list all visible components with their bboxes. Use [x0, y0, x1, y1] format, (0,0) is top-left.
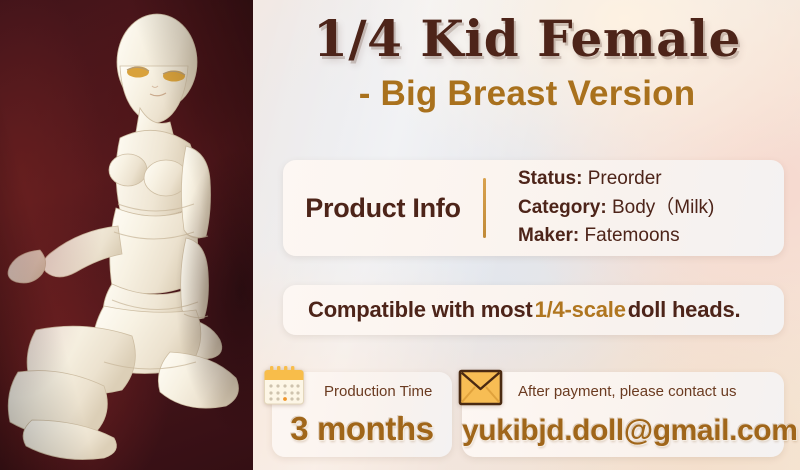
- envelope-icon: [458, 369, 503, 406]
- info-key: Category:: [518, 197, 607, 218]
- page-subtitle: - Big Breast Version: [262, 75, 792, 114]
- info-row-category: Category: Body（Milk): [518, 194, 784, 223]
- product-info-card: Product Info Status: Preorder Category: …: [283, 160, 784, 256]
- production-time-label: Production Time: [324, 383, 432, 400]
- title-block: 1/4 Kid Female - Big Breast Version: [262, 12, 792, 114]
- info-value: Body（Milk): [612, 197, 714, 218]
- contact-card: After payment, please contact us yukibjd…: [462, 372, 784, 457]
- promo-banner: 1/4 Kid Female - Big Breast Version Prod…: [0, 0, 800, 470]
- production-time-value: 3 months: [272, 410, 452, 448]
- page-title: 1/4 Kid Female: [262, 12, 792, 65]
- info-row-maker: Maker: Fatemoons: [518, 222, 784, 251]
- info-row-status: Status: Preorder: [518, 165, 784, 194]
- contact-email[interactable]: yukibjd.doll@gmail.com: [462, 414, 784, 448]
- product-info-rows: Status: Preorder Category: Body（Milk) Ma…: [486, 165, 784, 252]
- compatibility-card: Compatible with most 1/4-scale doll head…: [283, 285, 784, 335]
- product-photo: [0, 0, 253, 470]
- compat-suffix: doll heads.: [628, 297, 741, 323]
- compatibility-text: Compatible with most 1/4-scale doll head…: [283, 285, 784, 335]
- info-key: Maker:: [518, 225, 579, 246]
- calendar-icon: [263, 366, 305, 406]
- contact-label: After payment, please contact us: [518, 383, 736, 400]
- info-key: Status:: [518, 168, 582, 189]
- product-info-heading: Product Info: [283, 193, 483, 224]
- velvet-backdrop-shading: [0, 0, 253, 470]
- info-value: Preorder: [588, 168, 662, 189]
- compat-prefix: Compatible with most: [308, 297, 533, 323]
- info-value: Fatemoons: [585, 225, 680, 246]
- compat-highlight: 1/4-scale: [533, 297, 628, 323]
